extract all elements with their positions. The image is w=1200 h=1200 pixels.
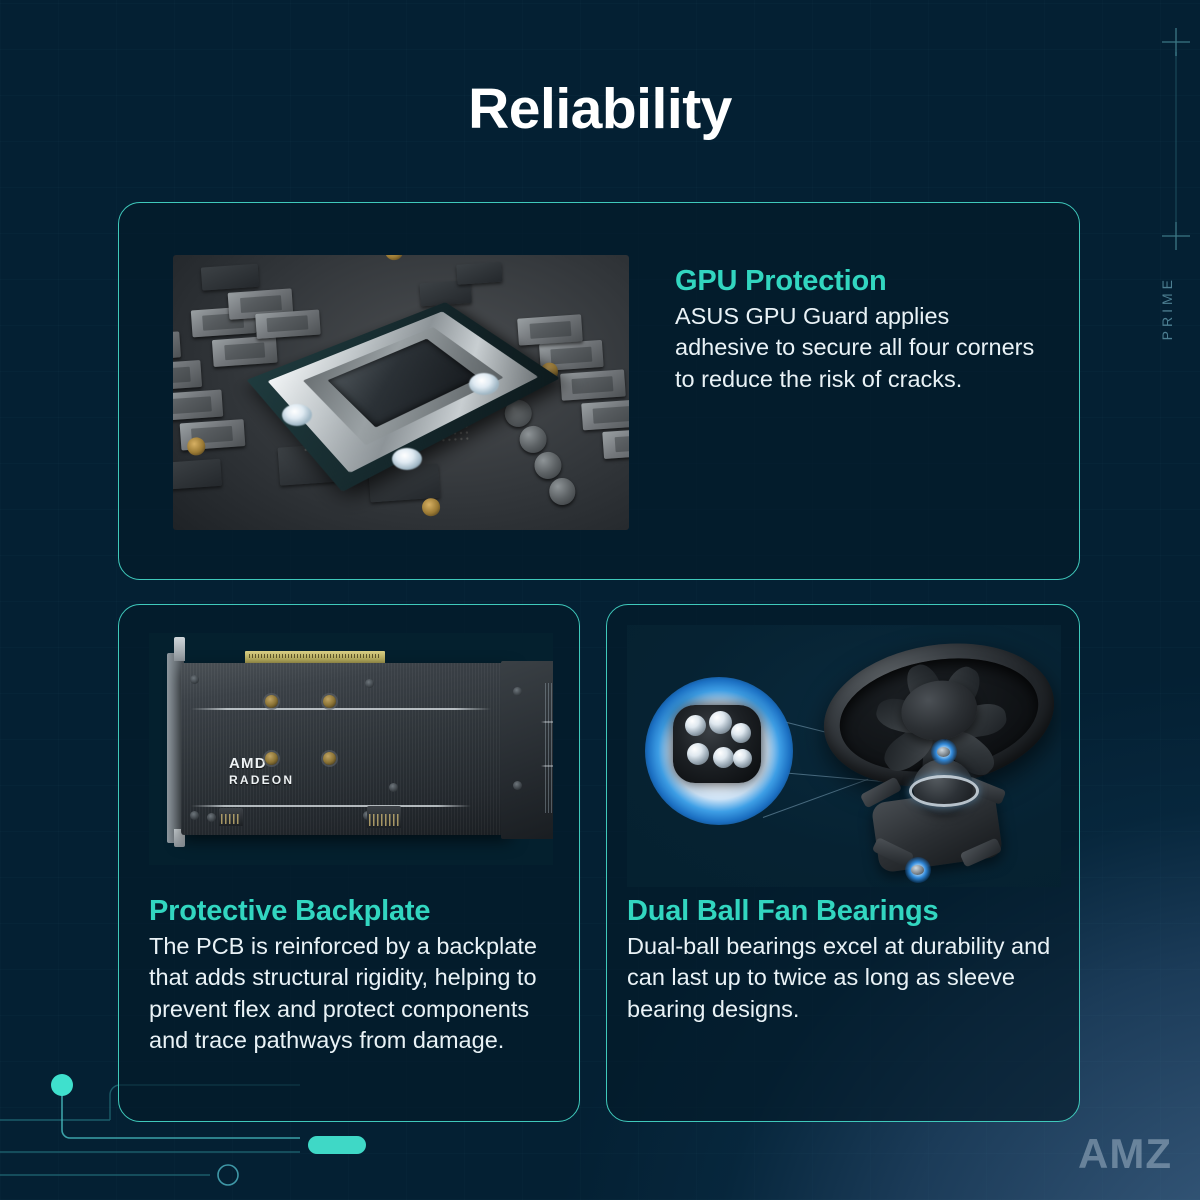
screw-head [937,747,950,757]
feature-card-protective-backplate[interactable]: AMDRADEON [118,604,580,1122]
feature-body-protective-backplate: The PCB is reinforced by a backplate tha… [149,931,561,1056]
backplate-body: AMDRADEON [181,663,511,835]
feature-body-gpu-protection: ASUS GPU Guard applies adhesive to secur… [675,301,1045,395]
right-rail: PRIME [1143,24,1183,364]
adhesive-dot [392,448,422,470]
fan-bearing-image [627,625,1061,887]
feature-title-dual-ball-fan-bearings: Dual Ball Fan Bearings [627,895,1067,928]
circuit-circle-outline [218,1165,238,1185]
backplate-vent-section [501,661,553,839]
feature-card-gpu-protection[interactable]: GPU Protection ASUS GPU Guard applies ad… [118,202,1080,580]
feature-body-dual-ball-fan-bearings: Dual-ball bearings excel at durability a… [627,931,1067,1025]
fan-hub-assembly [857,745,1037,885]
watermark-amz: AMZ [1078,1130,1172,1178]
dual-ball-bearing [673,705,761,783]
rail-label-prime: PRIME [1159,276,1175,340]
feature-card-dual-ball-fan-bearings[interactable]: Dual Ball Fan Bearings Dual-ball bearing… [606,604,1080,1122]
gpu-die-image [173,255,629,530]
feature-title-protective-backplate: Protective Backplate [149,895,561,928]
backplate-image: AMDRADEON [149,633,553,865]
feature-title-gpu-protection: GPU Protection [675,265,1045,298]
circuit-pill [308,1136,366,1154]
adhesive-dot [282,404,312,426]
page-title: Reliability [0,76,1200,142]
screw-head [911,865,924,875]
amd-radeon-logo: AMDRADEON [229,755,294,787]
circuit-dot-filled [51,1074,73,1096]
